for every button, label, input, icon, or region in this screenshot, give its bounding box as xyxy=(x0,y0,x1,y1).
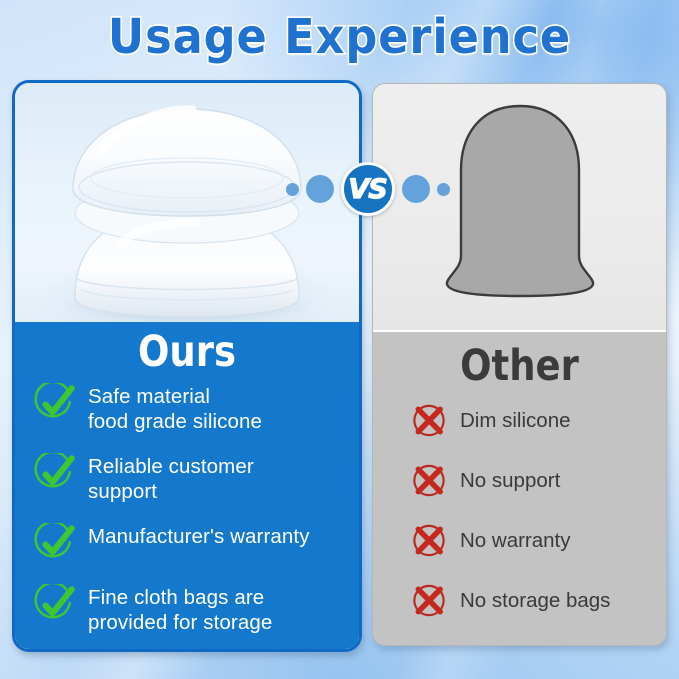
ours-feature-list: Safe material food grade silicone Reliab… xyxy=(15,383,359,635)
other-feature-list: Dim silicone No support No warranty xyxy=(373,401,666,620)
other-card: Other Dim silicone No support xyxy=(372,83,667,646)
list-item: Reliable customer support xyxy=(33,453,351,504)
list-item: Safe material food grade silicone xyxy=(33,383,351,434)
list-item: Fine cloth bags are provided for storage xyxy=(33,584,351,635)
green-check-icon xyxy=(33,584,76,626)
red-x-icon xyxy=(409,581,449,620)
list-item: No warranty xyxy=(409,521,660,560)
ours-panel: Ours Safe material food grade silicone R… xyxy=(15,322,359,649)
ours-heading: Ours xyxy=(39,322,335,377)
list-item-label: Dim silicone xyxy=(449,408,571,433)
green-check-icon xyxy=(33,523,76,565)
list-item-label: No warranty xyxy=(449,528,571,553)
list-item: No support xyxy=(409,461,660,500)
list-item-label: Safe material food grade silicone xyxy=(76,383,262,434)
red-x-icon xyxy=(409,521,449,560)
comparison-infographic: Usage Experience xyxy=(0,0,679,679)
green-check-icon xyxy=(33,383,76,425)
list-item-label: Fine cloth bags are provided for storage xyxy=(76,584,272,635)
list-item-label: No support xyxy=(449,468,560,493)
list-item-label: Manufacturer's warranty xyxy=(76,523,310,549)
red-x-icon xyxy=(409,461,449,500)
green-check-icon xyxy=(33,453,76,495)
gray-cup-illustration xyxy=(373,84,667,332)
ours-card: Ours Safe material food grade silicone R… xyxy=(12,80,362,652)
ours-product-image xyxy=(15,83,359,322)
page-title: Usage Experience xyxy=(24,6,655,68)
other-heading: Other xyxy=(394,334,646,391)
list-item: Manufacturer's warranty xyxy=(33,523,351,565)
red-x-icon xyxy=(409,401,449,440)
list-item-label: Reliable customer support xyxy=(76,453,254,504)
list-item: No storage bags xyxy=(409,581,660,620)
list-item-label: No storage bags xyxy=(449,588,610,613)
silicone-cup-illustration xyxy=(15,83,359,322)
other-panel: Other Dim silicone No support xyxy=(373,334,666,645)
list-item: Dim silicone xyxy=(409,401,660,440)
other-product-image xyxy=(373,84,666,332)
